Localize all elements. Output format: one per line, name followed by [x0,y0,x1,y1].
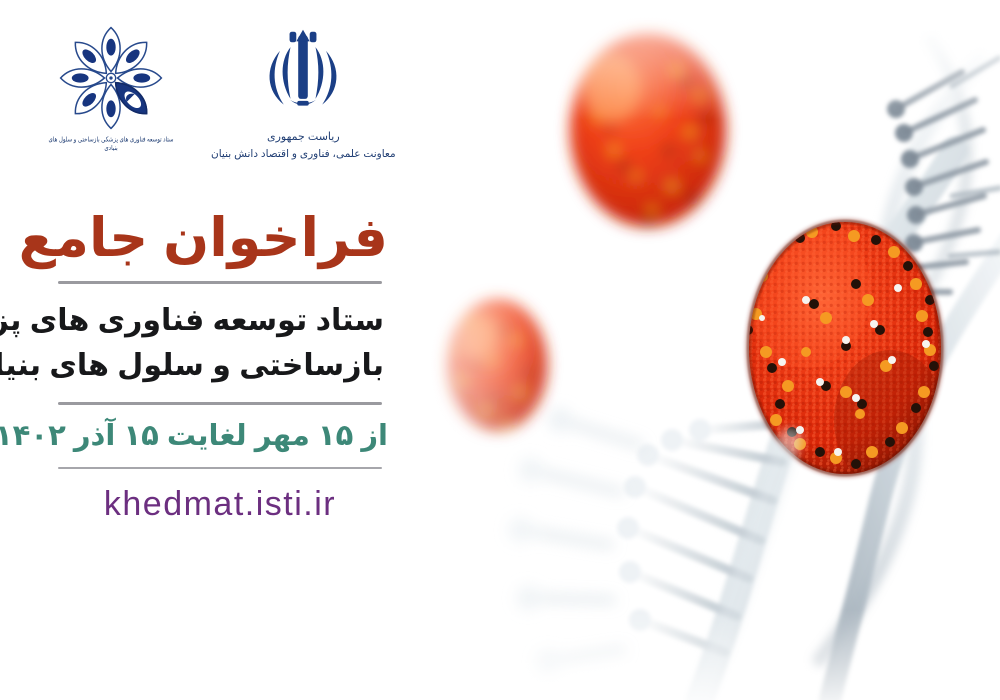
virus-particle-blurred [570,33,726,227]
stem-cell-hq-logo-caption: ستاد توسعه فناوری های پزشکی بازساختی و س… [45,136,177,153]
virus-particle-blurred-small [447,299,547,431]
website-url[interactable]: khedmat.isti.ir [52,485,388,524]
dateline: از ۱۵ مهر لغایت ۱۵ آذر ۱۴۰۲ [52,418,388,456]
subtitle: ستاد توسعه فناوری های پزشکی بازساختی و س… [56,298,384,388]
vice-presidency-caption-line1: ریاست جمهوری [267,131,340,145]
divider-middle [58,402,382,405]
eight-petal-star-rosette-icon [55,22,167,134]
iran-national-emblem-icon [255,22,351,124]
divider-bottom [58,467,382,469]
logo-row: ستاد توسعه فناوری های پزشکی بازساختی و س… [45,22,415,161]
stem-cell-hq-logo: ستاد توسعه فناوری های پزشکی بازساختی و س… [45,22,177,152]
vice-presidency-caption-line2: معاونت علمی، فناوری و اقتصاد دانش بنیان [211,148,396,161]
subtitle-line-1: ستاد توسعه فناوری های پزشکی [56,298,384,343]
headline: فراخوان جامع [52,210,388,267]
subtitle-line-2: بازساختی و سلول های بنیادی [56,343,384,388]
vice-presidency-logo: ریاست جمهوری معاونت علمی، فناوری و اقتصا… [211,22,396,161]
promotional-banner: ستاد توسعه فناوری های پزشکی بازساختی و س… [0,0,1000,700]
divider-top [58,281,382,284]
text-column: فراخوان جامع ستاد توسعه فناوری های پزشکی… [52,210,388,524]
